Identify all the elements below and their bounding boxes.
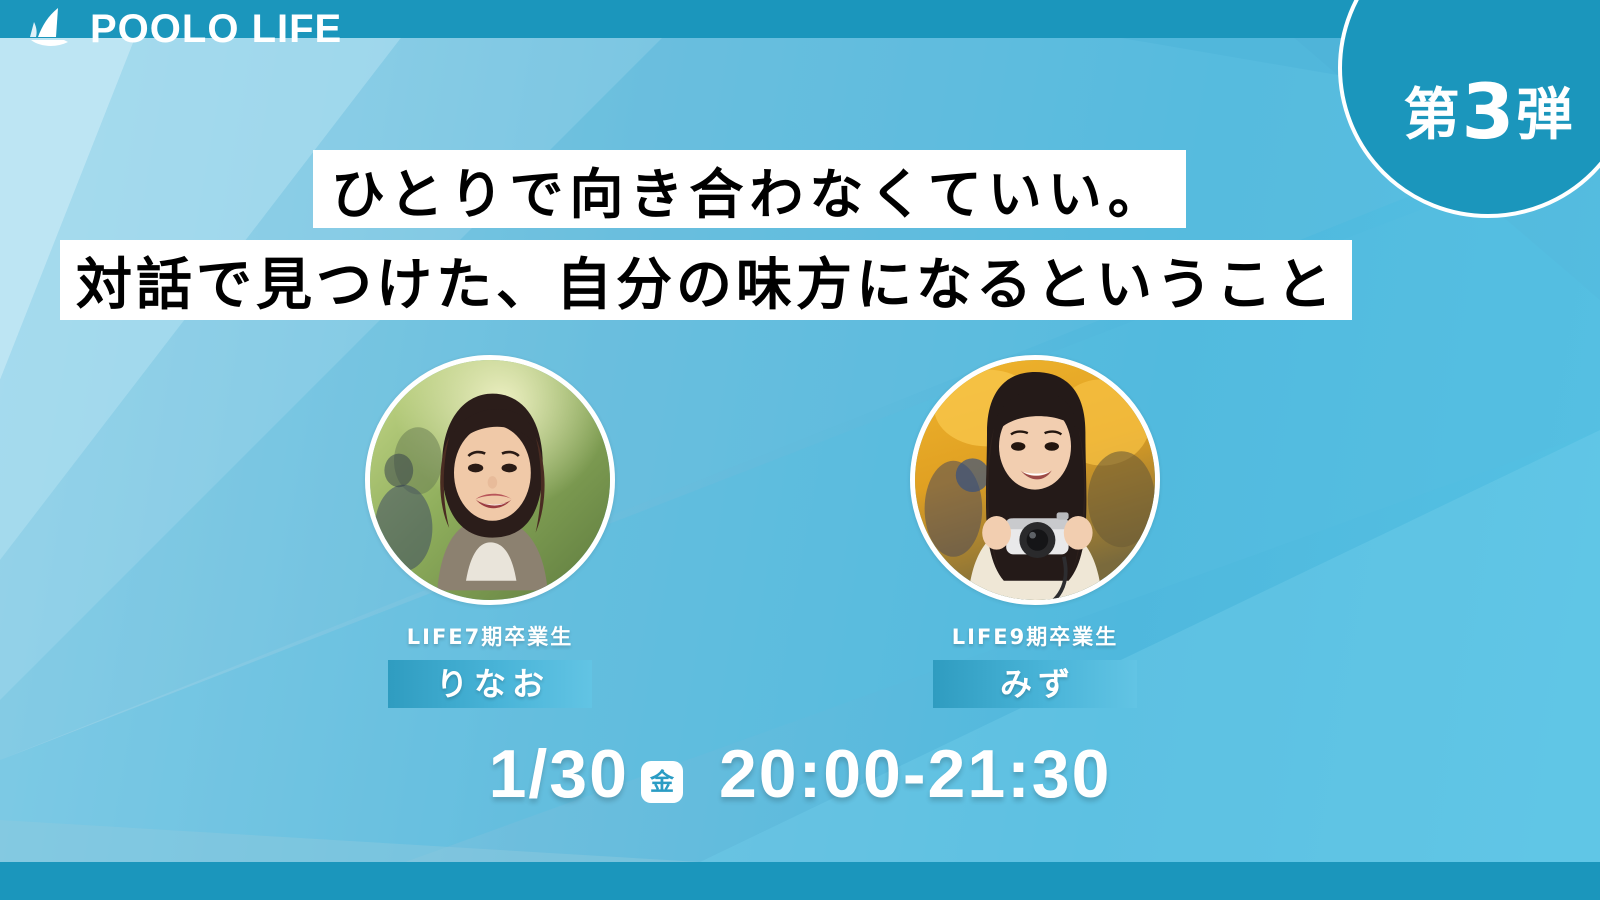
speaker-2-avatar [910,355,1160,605]
speaker-card-1: LIFE7期卒業生 りなお [330,355,650,708]
title-line-2: 対話で見つけた、自分の味方になるということ [60,240,1352,320]
speaker-2-photo [915,360,1155,600]
event-datetime: 1/30 金 20:00-21:30 [0,740,1600,808]
title-line-1: ひとりで向き合わなくていい。 [313,150,1186,228]
speaker-1-name: りなお [388,660,592,708]
brand-logo[interactable]: POOLO LIFE [28,6,342,52]
event-banner: POOLO LIFE 第3弾 ひとりで向き合わなくていい。 対話で見つけた、自分… [0,0,1600,900]
edition-badge: 第3弾 [1338,0,1600,218]
speaker-2-name: みず [933,660,1137,708]
speaker-1-role: LIFE7期卒業生 [330,621,650,651]
bottom-bar [0,862,1600,900]
speaker-1-avatar [365,355,615,605]
edition-number: 3 [1460,67,1517,156]
speaker-1-photo [370,360,610,600]
edition-prefix: 第 [1404,83,1460,148]
speaker-2-role: LIFE9期卒業生 [875,621,1195,651]
sailboat-icon [28,6,80,52]
edition-badge-text: 第3弾 [1338,67,1600,156]
event-date: 1/30 [489,740,629,808]
speaker-card-2: LIFE9期卒業生 みず [875,355,1195,708]
event-weekday-badge: 金 [641,761,683,803]
brand-logo-text: POOLO LIFE [90,6,342,52]
event-time: 20:00-21:30 [719,740,1111,808]
edition-suffix: 弾 [1516,83,1572,148]
